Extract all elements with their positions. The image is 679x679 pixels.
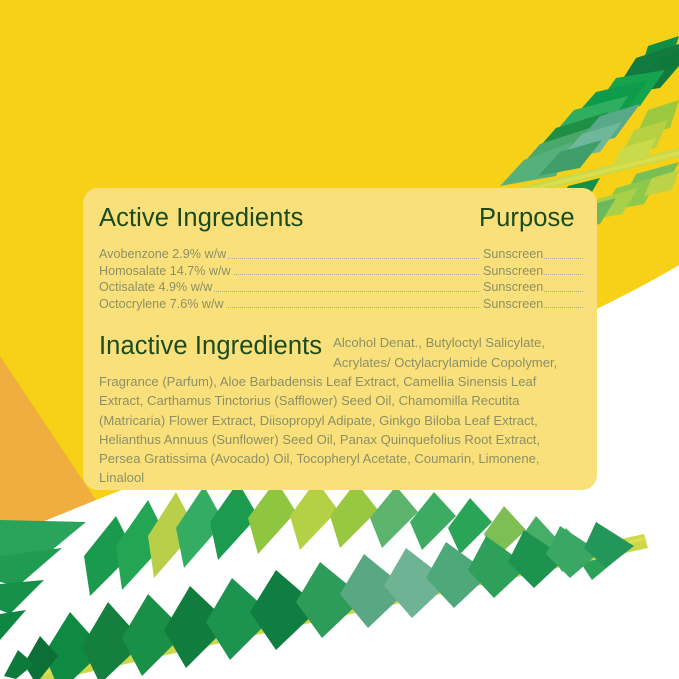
ingredient-purpose: Sunscreen [479, 246, 543, 263]
active-ingredient-row: Avobenzone 2.9% w/wSunscreen [99, 246, 583, 263]
product-label-panel: Active Ingredients Purpose Avobenzone 2.… [0, 0, 679, 679]
active-header-row: Active Ingredients Purpose [99, 202, 583, 238]
ingredient-purpose: Sunscreen [479, 296, 543, 313]
white-wedge [44, 500, 132, 600]
active-ingredient-row: Octocrylene 7.6% w/wSunscreen [99, 296, 583, 313]
inactive-ingredients-heading: Inactive Ingredients [99, 333, 322, 360]
ingredient-purpose: Sunscreen [479, 263, 543, 280]
ingredient-name: Homosalate 14.7% w/w [99, 263, 233, 280]
ingredients-card: Active Ingredients Purpose Avobenzone 2.… [83, 188, 597, 490]
active-ingredient-row: Octisalate 4.9% w/wSunscreen [99, 279, 583, 296]
active-ingredients-heading: Active Ingredients [99, 202, 304, 234]
purpose-heading: Purpose [479, 202, 575, 234]
orange-band [0, 356, 96, 538]
ingredient-purpose: Sunscreen [479, 279, 543, 296]
active-ingredient-row: Homosalate 14.7% w/wSunscreen [99, 263, 583, 280]
ingredient-name: Avobenzone 2.9% w/w [99, 246, 228, 263]
ingredient-name: Octocrylene 7.6% w/w [99, 296, 226, 313]
inactive-ingredients-block: Inactive Ingredients Alcohol Denat., But… [99, 333, 583, 487]
active-ingredients-list: Avobenzone 2.9% w/wSunscreenHomosalate 1… [99, 246, 583, 312]
ingredient-name: Octisalate 4.9% w/w [99, 279, 214, 296]
